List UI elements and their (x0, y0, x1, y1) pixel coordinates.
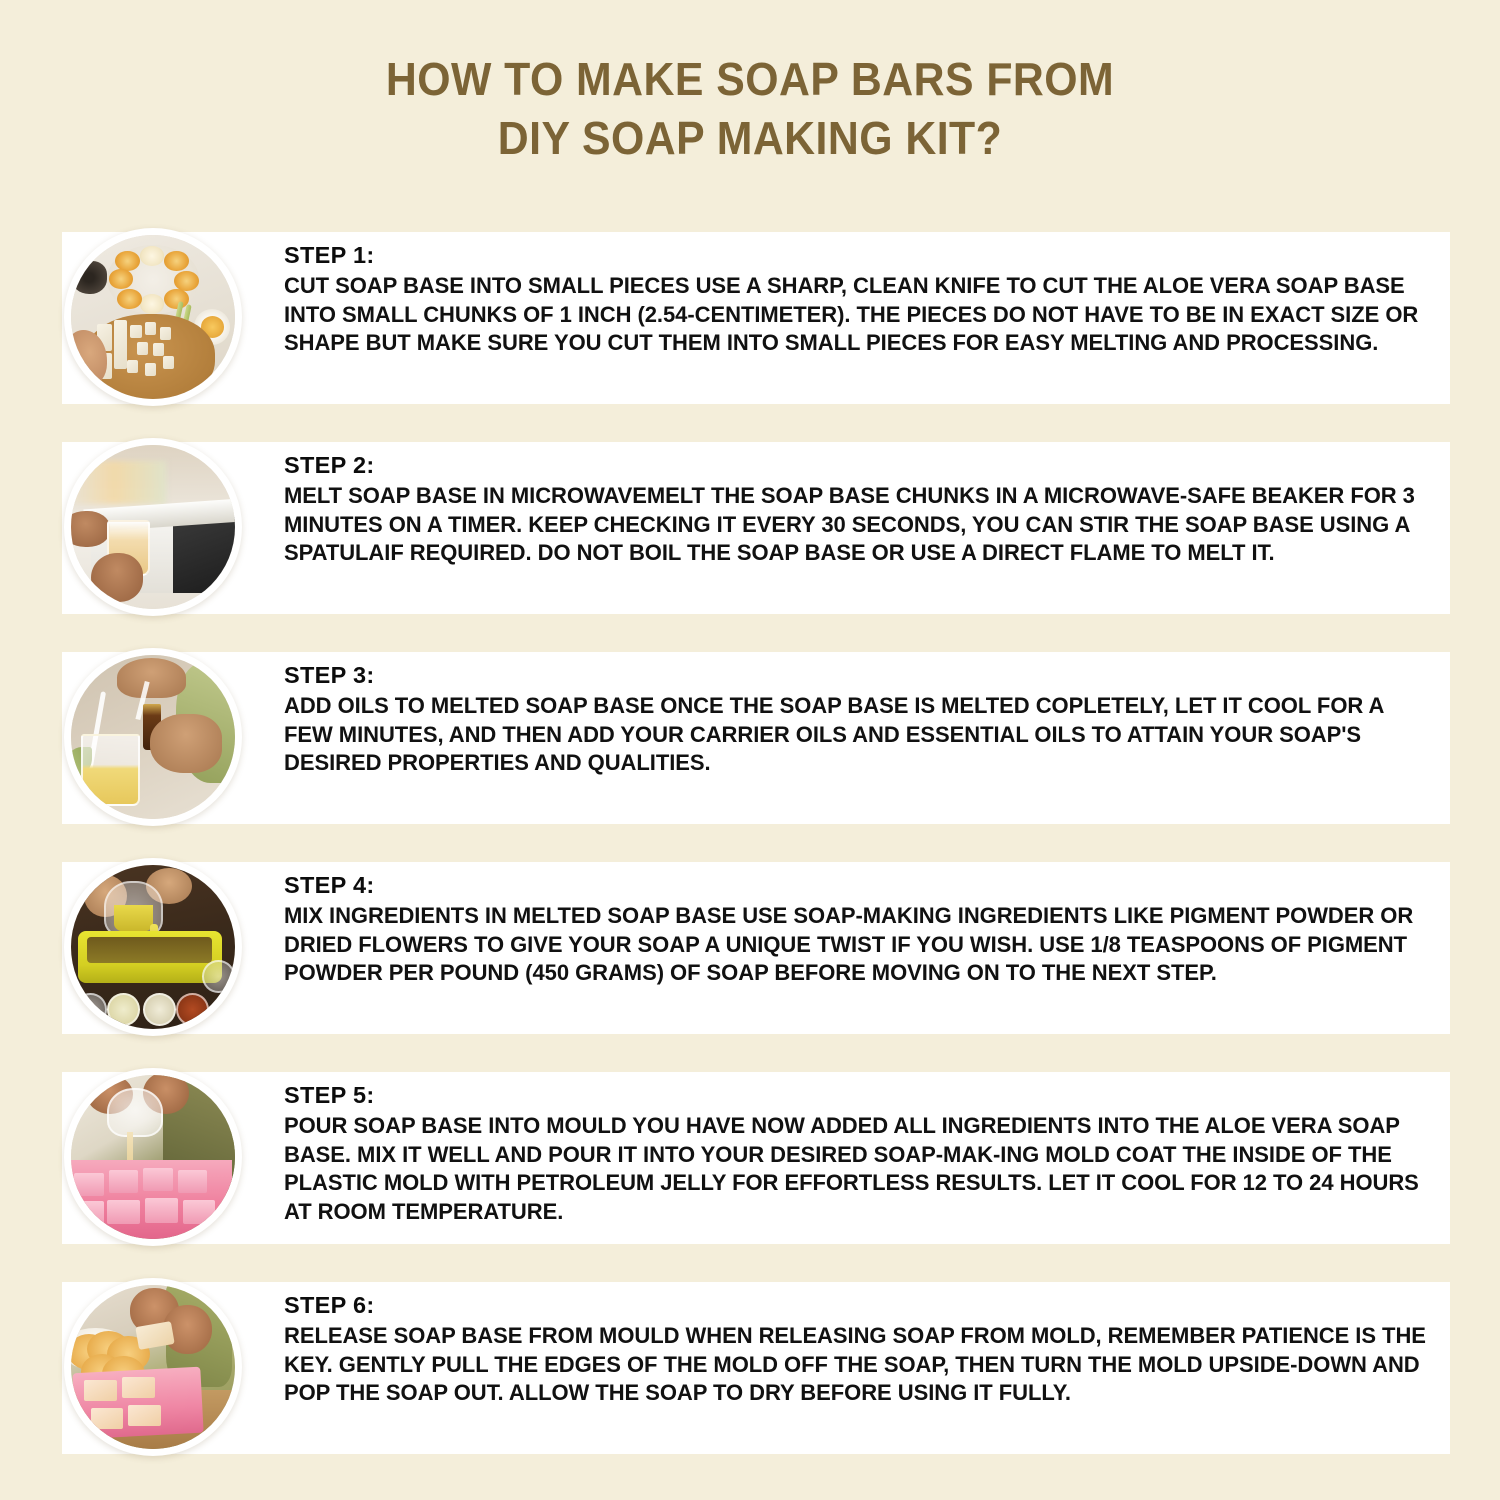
step-card: STEP 6: RELEASE SOAP BASE FROM MOULD WHE… (62, 1282, 1450, 1454)
soap-base-cutting-photo (71, 235, 235, 399)
step-body: ADD OILS TO MELTED SOAP BASE ONCE THE SO… (284, 692, 1436, 778)
step-row: STEP 1: CUT SOAP BASE INTO SMALL PIECES … (0, 232, 1500, 404)
step-thumbnail (64, 648, 242, 826)
step-label: STEP 5: (284, 1080, 1436, 1111)
step-body: MIX INGREDIENTS IN MELTED SOAP BASE USE … (284, 902, 1436, 988)
steps-list: STEP 1: CUT SOAP BASE INTO SMALL PIECES … (0, 232, 1500, 1492)
step-card: STEP 2: MELT SOAP BASE IN MICROWAVEMELT … (62, 442, 1450, 614)
step-text-block: STEP 2: MELT SOAP BASE IN MICROWAVEMELT … (284, 450, 1436, 568)
step-text-block: STEP 4: MIX INGREDIENTS IN MELTED SOAP B… (284, 870, 1436, 988)
page-header: HOW TO MAKE SOAP BARS FROM DIY SOAP MAKI… (0, 0, 1500, 168)
step-text-block: STEP 5: POUR SOAP BASE INTO MOULD YOU HA… (284, 1080, 1436, 1227)
step-body: RELEASE SOAP BASE FROM MOULD WHEN RELEAS… (284, 1322, 1436, 1408)
page-title: HOW TO MAKE SOAP BARS FROM DIY SOAP MAKI… (53, 50, 1448, 168)
step-thumbnail (64, 1068, 242, 1246)
step-text-block: STEP 6: RELEASE SOAP BASE FROM MOULD WHE… (284, 1290, 1436, 1408)
step-thumbnail (64, 438, 242, 616)
step-card: STEP 4: MIX INGREDIENTS IN MELTED SOAP B… (62, 862, 1450, 1034)
step-thumbnail (64, 228, 242, 406)
step-row: STEP 2: MELT SOAP BASE IN MICROWAVEMELT … (0, 442, 1500, 614)
step-label: STEP 3: (284, 660, 1436, 691)
step-card: STEP 1: CUT SOAP BASE INTO SMALL PIECES … (62, 232, 1450, 404)
step-thumbnail (64, 858, 242, 1036)
step-text-block: STEP 3: ADD OILS TO MELTED SOAP BASE ONC… (284, 660, 1436, 778)
page-title-line-2: DIY SOAP MAKING KIT? (53, 109, 1448, 168)
step-card: STEP 3: ADD OILS TO MELTED SOAP BASE ONC… (62, 652, 1450, 824)
page-title-line-1: HOW TO MAKE SOAP BARS FROM (53, 50, 1448, 109)
step-thumbnail (64, 1278, 242, 1456)
adding-oils-dropper-photo (71, 655, 235, 819)
step-row: STEP 3: ADD OILS TO MELTED SOAP BASE ONC… (0, 652, 1500, 824)
step-row: STEP 4: MIX INGREDIENTS IN MELTED SOAP B… (0, 862, 1500, 1034)
releasing-soap-from-mould-photo (71, 1285, 235, 1449)
step-label: STEP 6: (284, 1290, 1436, 1321)
mixing-ingredients-yellow-mould-photo (71, 865, 235, 1029)
microwave-melting-photo (71, 445, 235, 609)
step-text-block: STEP 1: CUT SOAP BASE INTO SMALL PIECES … (284, 240, 1436, 358)
step-body: POUR SOAP BASE INTO MOULD YOU HAVE NOW A… (284, 1112, 1436, 1227)
step-row: STEP 6: RELEASE SOAP BASE FROM MOULD WHE… (0, 1282, 1500, 1454)
step-row: STEP 5: POUR SOAP BASE INTO MOULD YOU HA… (0, 1072, 1500, 1244)
step-body: CUT SOAP BASE INTO SMALL PIECES USE A SH… (284, 272, 1436, 358)
step-label: STEP 1: (284, 240, 1436, 271)
step-label: STEP 4: (284, 870, 1436, 901)
step-card: STEP 5: POUR SOAP BASE INTO MOULD YOU HA… (62, 1072, 1450, 1244)
step-body: MELT SOAP BASE IN MICROWAVEMELT THE SOAP… (284, 482, 1436, 568)
pouring-into-pink-mould-photo (71, 1075, 235, 1239)
step-label: STEP 2: (284, 450, 1436, 481)
